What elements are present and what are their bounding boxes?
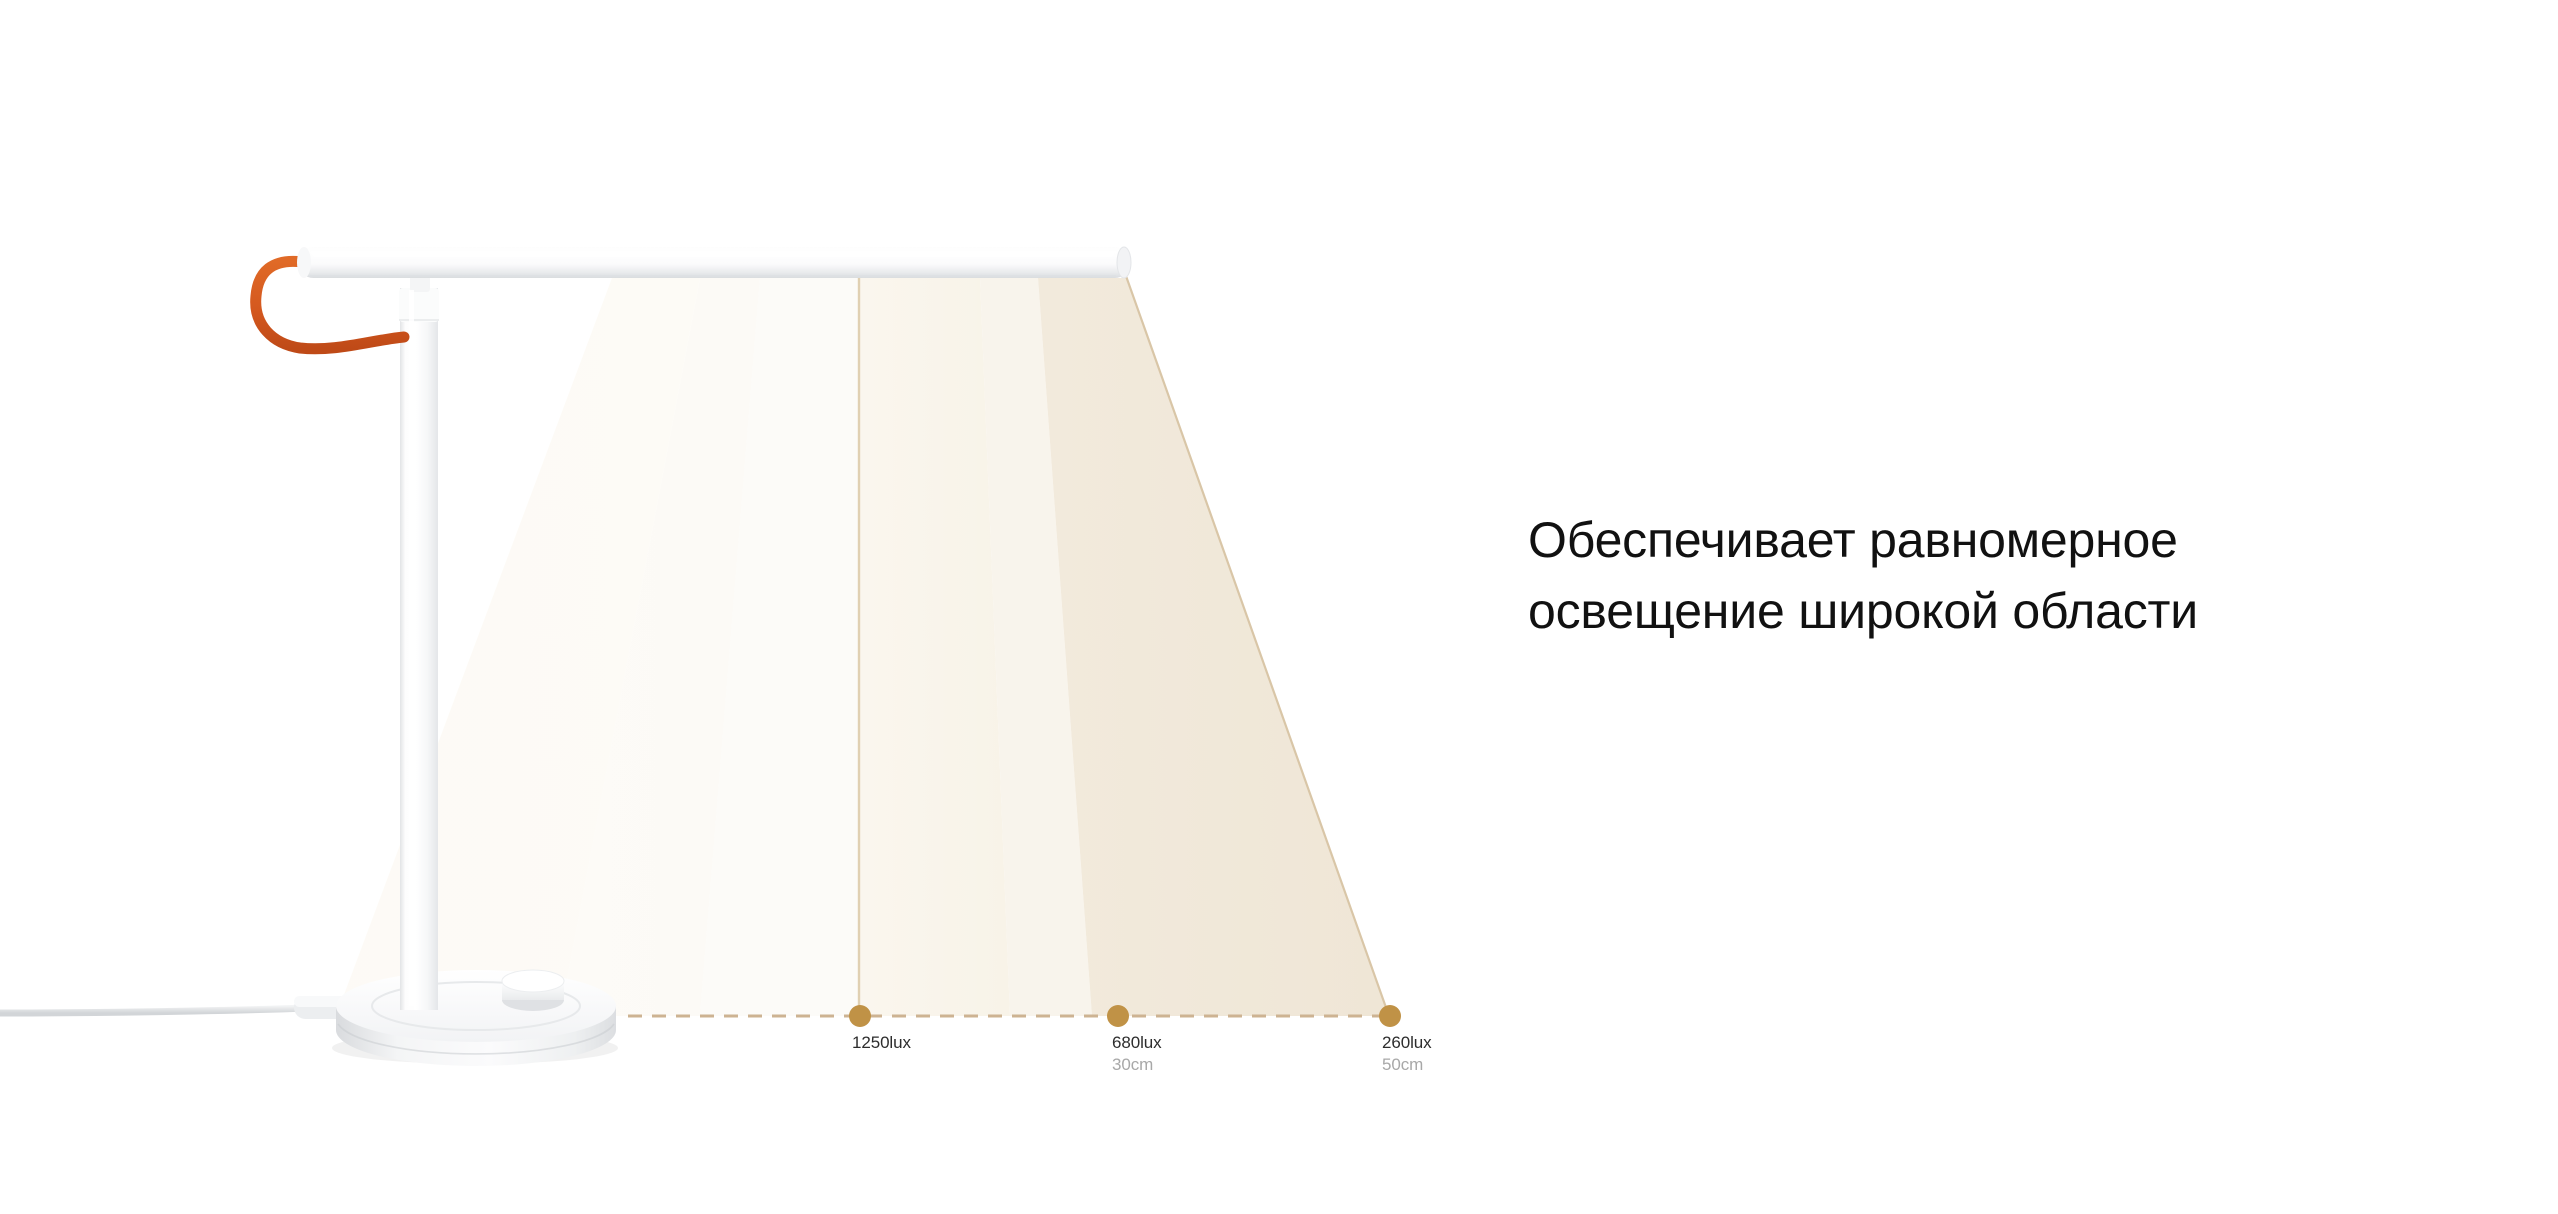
cone-band-4 xyxy=(1038,278,1388,1016)
lux-value-1: 1250lux xyxy=(852,1032,911,1054)
marker-dot-1250lux[interactable] xyxy=(849,1005,871,1027)
distance-value-3: 50cm xyxy=(1382,1054,1432,1076)
marker-dot-260lux[interactable] xyxy=(1379,1005,1401,1027)
distance-value-2: 30cm xyxy=(1112,1054,1162,1076)
power-knob-icon[interactable] xyxy=(502,970,564,1011)
illustration-stage: 1250lux 680lux 30cm 260lux 50cm Обеспечи… xyxy=(0,0,2558,1214)
lamp-base-icon xyxy=(332,970,618,1066)
lamp-bar-icon xyxy=(297,247,1131,278)
marker-label-260lux: 260lux 50cm xyxy=(1382,1032,1432,1076)
lux-value-3: 260lux xyxy=(1382,1032,1432,1054)
headline-text: Обеспечивает равномерное освещение широк… xyxy=(1528,505,2488,647)
light-cone-icon xyxy=(336,276,1389,1016)
marker-dot-680lux[interactable] xyxy=(1107,1005,1129,1027)
marker-label-1250lux: 1250lux xyxy=(852,1032,911,1054)
marker-label-680lux: 680lux 30cm xyxy=(1112,1032,1162,1076)
headline-line-1: Обеспечивает равномерное xyxy=(1528,505,2488,576)
headline-line-2: освещение широкой области xyxy=(1528,576,2488,647)
lamp-post-icon xyxy=(399,272,439,1010)
power-cord-icon xyxy=(0,996,366,1019)
lux-value-2: 680lux xyxy=(1112,1032,1162,1054)
